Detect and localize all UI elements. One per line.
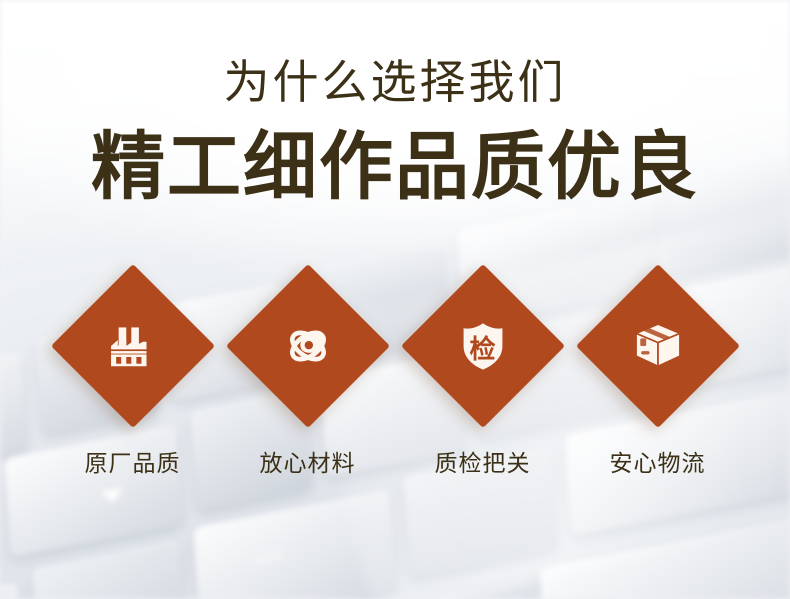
feature-label: 质检把关 <box>435 444 531 478</box>
feature-item-factory[interactable]: 原厂品质 <box>73 286 193 478</box>
feature-label: 放心材料 <box>260 444 356 478</box>
factory-icon <box>106 319 160 373</box>
diamond-badge[interactable]: 检 <box>423 286 543 406</box>
promo-banner: enter shift 为什么选择我们 精工细作品质优良 <box>0 0 790 599</box>
feature-item-logistics[interactable]: 安心物流 <box>598 286 718 478</box>
headline-block: 为什么选择我们 精工细作品质优良 <box>0 58 790 207</box>
atom-icon <box>281 319 335 373</box>
diamond-badge[interactable] <box>248 286 368 406</box>
feature-label: 原厂品质 <box>85 444 181 478</box>
page-title: 精工细作品质优良 <box>0 128 790 206</box>
package-icon <box>631 319 685 373</box>
diamond-badge[interactable] <box>73 286 193 406</box>
shield-icon: 检 <box>456 319 510 373</box>
feature-item-inspection[interactable]: 检 质检把关 <box>423 286 543 478</box>
shield-char: 检 <box>456 319 510 373</box>
feature-list: 原厂品质 放心材料 <box>0 286 790 478</box>
feature-item-material[interactable]: 放心材料 <box>248 286 368 478</box>
subtitle: 为什么选择我们 <box>0 58 790 106</box>
diamond-badge[interactable] <box>598 286 718 406</box>
feature-label: 安心物流 <box>610 444 706 478</box>
